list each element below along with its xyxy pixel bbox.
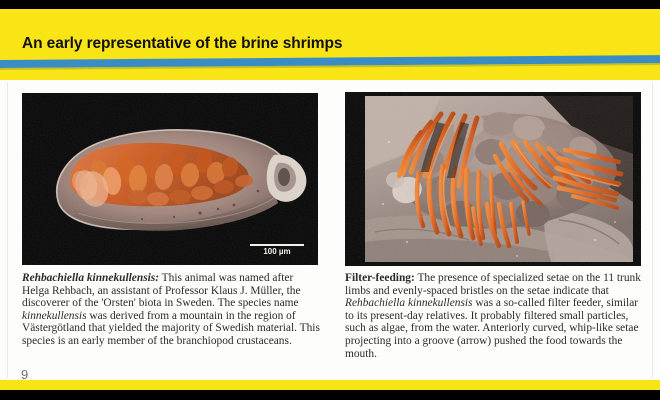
caption-right-italic-1: Rehbachiella kinnekullensis: [345, 297, 472, 309]
page-root: An early representative of the brine shr…: [0, 0, 660, 400]
caption-right: Filter-feeding: The presence of speciali…: [345, 272, 643, 360]
page-title: An early representative of the brine shr…: [22, 35, 342, 53]
caption-left: Rehbachiella kinnekullensis: This animal…: [22, 272, 320, 348]
figure-right-micrograph: [345, 92, 641, 266]
bottom-black-bar: [0, 390, 660, 400]
scale-bar-label: 100 µm: [250, 247, 304, 256]
top-black-bar: [0, 0, 660, 9]
scale-bar-line: [250, 244, 304, 246]
bottom-yellow-bar: [0, 380, 660, 390]
figure-left: 100 µm: [22, 93, 318, 265]
scale-bar: 100 µm: [250, 244, 304, 256]
figure-right: [345, 92, 641, 266]
caption-right-lead: Filter-feeding:: [345, 272, 415, 284]
content-edge-line-right: [652, 82, 653, 378]
content-edge-line-left: [7, 82, 8, 378]
figure-left-micrograph: [22, 93, 318, 265]
caption-left-lead: Rehbachiella kinnekullensis:: [22, 272, 159, 284]
caption-left-italic-1: kinnekullensis: [22, 310, 87, 322]
header-band: An early representative of the brine shr…: [0, 9, 660, 80]
